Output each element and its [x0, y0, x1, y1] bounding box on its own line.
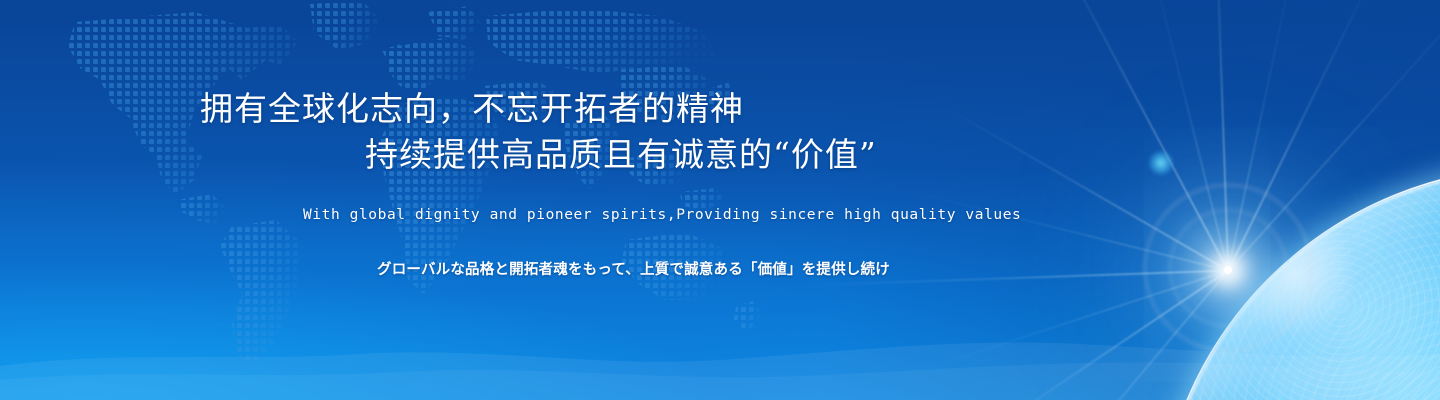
sun-halo-inner	[1169, 209, 1287, 327]
headline-line-2: 持续提供高品质且有诚意的“价值”	[365, 138, 877, 171]
lens-flare-ghost	[1148, 150, 1174, 176]
subtitle-english: With global dignity and pioneer spirits,…	[303, 207, 1021, 223]
globe-body	[1158, 168, 1440, 400]
sun-halo-outer	[1144, 184, 1312, 352]
sky-right-shading	[820, 0, 1440, 400]
subtitle-japanese: グローバルな品格と開拓者魂をもって、上質で誠意ある「価値」を提供し続け	[377, 258, 890, 279]
globe-terminator-shading	[1158, 168, 1440, 400]
globe-atmosphere-rim	[1158, 168, 1440, 400]
headline-line-1: 拥有全球化志向，不忘开拓者的精神	[200, 92, 744, 125]
hero-banner: 拥有全球化志向，不忘开拓者的精神 持续提供高品质且有诚意的“价值” With g…	[0, 0, 1440, 400]
globe-surface-texture	[1158, 168, 1440, 400]
wave-silhouette	[0, 310, 1440, 400]
copy-block: 拥有全球化志向，不忘开拓者的精神 持续提供高品质且有诚意的“价值” With g…	[0, 0, 1060, 400]
sun-flare	[1224, 266, 1232, 274]
earth-globe	[1040, 60, 1440, 400]
dotted-world-map	[0, 0, 770, 394]
